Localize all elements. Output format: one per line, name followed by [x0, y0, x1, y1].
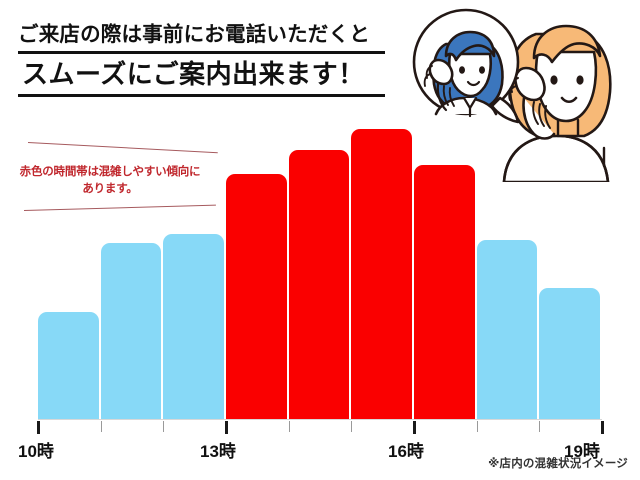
bar-17時	[477, 240, 538, 420]
annotation-rule-top	[28, 142, 218, 153]
annotation-rule-bottom	[24, 205, 216, 211]
x-tick-9	[601, 421, 604, 434]
congestion-poster: ご来店の際は事前にお電話いただくと スムーズにご案内出来ます！ 赤色の時間帯は混…	[0, 0, 640, 480]
bar-10時	[38, 312, 99, 420]
busy-annotation: 赤色の時間帯は混雑しやすい傾向に あります。	[10, 164, 210, 197]
headline-line-1: ご来店の際は事前にお電話いただくと	[18, 22, 388, 51]
bar-16時	[414, 165, 475, 420]
annotation-line-1: 赤色の時間帯は混雑しやすい傾向に	[10, 164, 210, 181]
x-axis-label-16時: 16時	[388, 437, 424, 462]
x-axis-label-10時: 10時	[18, 437, 54, 462]
x-tick-1	[101, 421, 102, 432]
headline-line-2: スムーズにご案内出来ます！	[18, 54, 388, 95]
bar-18時	[539, 288, 600, 420]
chart-footnote: ※店内の混雑状況イメージ	[488, 455, 628, 471]
phone-call-illustration	[408, 0, 640, 182]
woman-body	[504, 136, 608, 182]
headline-block: ご来店の際は事前にお電話いただくと スムーズにご案内出来ます！	[18, 22, 388, 97]
x-tick-7	[477, 421, 478, 432]
bar-11時	[101, 243, 162, 420]
headline-rule-bottom	[18, 94, 385, 97]
bar-15時	[351, 129, 412, 420]
x-tick-4	[289, 421, 290, 432]
x-tick-2	[163, 421, 164, 432]
bar-14時	[289, 150, 350, 420]
x-tick-0	[37, 421, 40, 434]
x-tick-8	[539, 421, 540, 432]
x-tick-3	[225, 421, 228, 434]
x-tick-5	[351, 421, 352, 432]
x-axis-label-13時: 13時	[200, 437, 236, 462]
annotation-line-2: あります。	[10, 181, 210, 198]
bar-12時	[163, 234, 224, 420]
bar-13時	[226, 174, 287, 420]
x-tick-6	[413, 421, 416, 434]
